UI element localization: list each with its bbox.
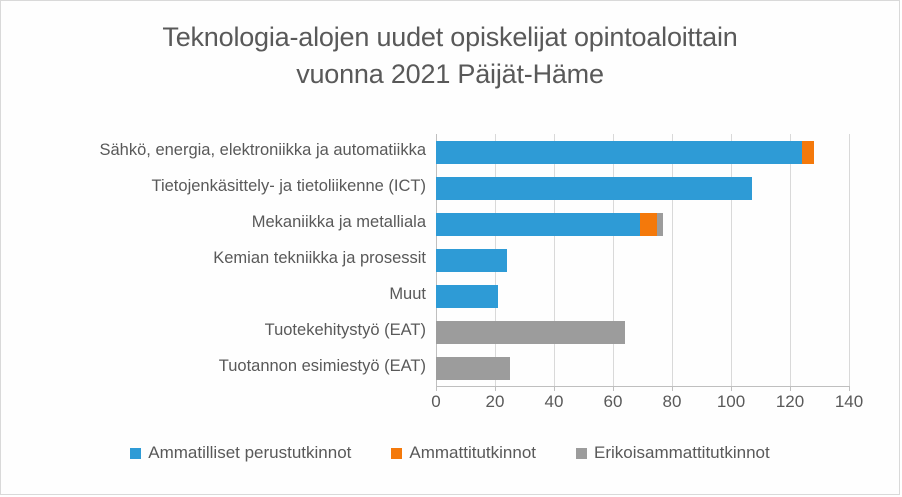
axis-tick-label: 40: [545, 392, 564, 412]
category-label: Sähkö, energia, elektroniikka ja automat…: [16, 141, 436, 160]
chart-container: Teknologia-alojen uudet opiskelijat opin…: [0, 0, 900, 495]
legend-item[interactable]: Ammattitutkinnot: [391, 443, 536, 463]
bar-row: [436, 141, 814, 164]
axis-tick-mark: [495, 386, 496, 391]
bar-segment: [436, 213, 640, 236]
bar-segment: [802, 141, 814, 164]
bar-segment: [436, 285, 498, 308]
value-axis-labels: 020406080100120140: [436, 386, 849, 416]
axis-tick-mark: [731, 386, 732, 391]
legend-label: Ammattitutkinnot: [409, 443, 536, 463]
bar-row: [436, 285, 498, 308]
bar-segment: [640, 213, 658, 236]
axis-tick-mark: [554, 386, 555, 391]
gridline: [849, 134, 850, 386]
legend-swatch-icon: [391, 448, 402, 459]
legend-item[interactable]: Ammatilliset perustutkinnot: [130, 443, 351, 463]
chart-title-line-1: Teknologia-alojen uudet opiskelijat opin…: [162, 22, 737, 52]
bar-row: [436, 249, 507, 272]
axis-tick-mark: [613, 386, 614, 391]
axis-tick-mark: [790, 386, 791, 391]
axis-tick-label: 60: [604, 392, 623, 412]
chart-title: Teknologia-alojen uudet opiskelijat opin…: [1, 19, 899, 93]
axis-tick-label: 80: [663, 392, 682, 412]
bar-segment: [657, 213, 663, 236]
chart-legend: Ammatilliset perustutkinnotAmmattitutkin…: [1, 443, 899, 463]
category-label: Tietojenkäsittely- ja tietoliikenne (ICT…: [16, 177, 436, 196]
bar-row: [436, 177, 752, 200]
bar-row: [436, 321, 625, 344]
category-axis-labels: Sähkö, energia, elektroniikka ja automat…: [1, 134, 436, 386]
category-label: Kemian tekniikka ja prosessit: [16, 249, 436, 268]
axis-tick-label: 0: [431, 392, 440, 412]
bar-segment: [436, 321, 625, 344]
bars-group: [436, 134, 849, 386]
legend-swatch-icon: [576, 448, 587, 459]
bar-segment: [436, 177, 752, 200]
legend-item[interactable]: Erikoisammattitutkinnot: [576, 443, 770, 463]
category-label: Muut: [16, 285, 436, 304]
legend-label: Ammatilliset perustutkinnot: [148, 443, 351, 463]
axis-tick-label: 140: [835, 392, 863, 412]
axis-tick-label: 20: [486, 392, 505, 412]
chart-title-line-2: vuonna 2021 Päijät-Häme: [296, 59, 604, 89]
bar-segment: [436, 141, 802, 164]
axis-tick-label: 100: [717, 392, 745, 412]
bar-segment: [436, 249, 507, 272]
category-label: Tuotannon esimiestyö (EAT): [16, 357, 436, 376]
axis-tick-label: 120: [776, 392, 804, 412]
legend-label: Erikoisammattitutkinnot: [594, 443, 770, 463]
category-label: Mekaniikka ja metalliala: [16, 213, 436, 232]
bar-row: [436, 213, 663, 236]
bar-segment: [436, 357, 510, 380]
axis-tick-mark: [849, 386, 850, 391]
axis-tick-mark: [672, 386, 673, 391]
legend-swatch-icon: [130, 448, 141, 459]
axis-tick-mark: [436, 386, 437, 391]
bar-row: [436, 357, 510, 380]
category-label: Tuotekehitystyö (EAT): [16, 321, 436, 340]
